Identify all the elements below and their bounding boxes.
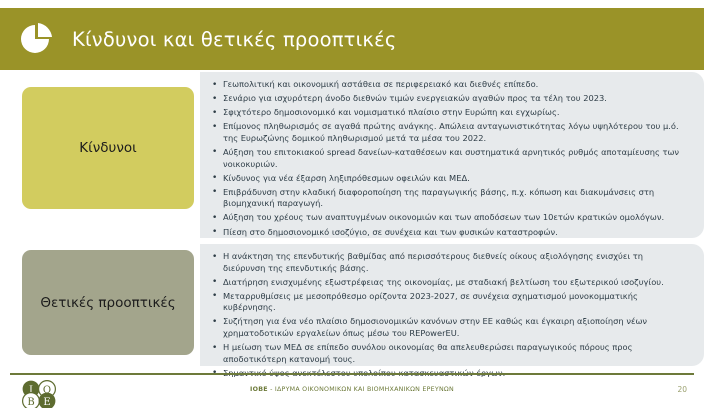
- pie-chart-icon: [18, 21, 54, 57]
- svg-text:E: E: [43, 397, 50, 408]
- section-panel-risks: Γεωπολιτική και οικονομική αστάθεια σε π…: [200, 72, 704, 238]
- list-item: Πίεση στο δημοσιονομικό ισοζύγιο, σε συν…: [210, 227, 684, 239]
- list-item: Κίνδυνος για νέα έξαρση ληξιπρόθεσμων οφ…: [210, 173, 684, 185]
- page-title: Κίνδυνοι και θετικές προοπτικές: [72, 28, 396, 51]
- footer-divider: [10, 373, 694, 375]
- iobe-logo-icon: I O B E: [20, 380, 62, 408]
- positive-prospects-bullet-list: Η ανάκτηση της επενδυτικής βαθμίδας από …: [210, 251, 684, 379]
- section-label-positive-prospects-text: Θετικές προοπτικές: [40, 295, 175, 311]
- section-panel-positive-prospects: Η ανάκτηση της επενδυτικής βαθμίδας από …: [200, 244, 704, 366]
- list-item: Διατήρηση ενισχυμένης εξωστρέφειας της ο…: [210, 277, 684, 289]
- list-item: Συζήτηση για ένα νέο πλαίσιο δημοσιονομι…: [210, 316, 684, 339]
- slide-header: Κίνδυνοι και θετικές προοπτικές: [0, 8, 704, 70]
- slide-body: Κίνδυνοι Γεωπολιτική και οικονομική αστά…: [0, 70, 704, 370]
- list-item: Αύξηση του χρέους των αναπτυγμένων οικον…: [210, 212, 684, 224]
- page-number: 20: [677, 385, 687, 394]
- list-item: Η μείωση των ΜΕΔ σε επίπεδο συνόλου οικο…: [210, 342, 684, 365]
- list-item: Αύξηση του επιτοκιακού spread δανείων-κα…: [210, 147, 684, 170]
- list-item: Επίμονος πληθωρισμός σε αγαθά πρώτης ανά…: [210, 121, 684, 144]
- footer-organization-name: - ΙΔΡΥΜΑ ΟΙΚΟΝΟΜΙΚΩΝ ΚΑΙ ΒΙΟΜΗΧΑΝΙΚΩΝ ΕΡ…: [268, 386, 454, 393]
- section-label-risks: Κίνδυνοι: [22, 87, 194, 209]
- slide-footer: I O B E IOBE - ΙΔΡΥΜΑ ΟΙΚΟΝΟΜΙΚΩΝ ΚΑΙ ΒΙ…: [0, 377, 704, 413]
- list-item: Γεωπολιτική και οικονομική αστάθεια σε π…: [210, 79, 684, 91]
- section-label-positive-prospects: Θετικές προοπτικές: [22, 250, 194, 355]
- list-item: Σφιχτότερο δημοσιονομικό και νομισματικό…: [210, 107, 684, 119]
- section-label-risks-text: Κίνδυνοι: [79, 140, 136, 156]
- list-item: Επιβράδυνση στην κλαδική διαφοροποίηση τ…: [210, 187, 684, 210]
- list-item: Μεταρρυθμίσεις με μεσοπρόθεσμο ορίζοντα …: [210, 291, 684, 314]
- risks-bullet-list: Γεωπολιτική και οικονομική αστάθεια σε π…: [210, 79, 684, 238]
- list-item: Σενάριο για ισχυρότερη άνοδο διεθνών τιμ…: [210, 93, 684, 105]
- footer-organization: IOBE - ΙΔΡΥΜΑ ΟΙΚΟΝΟΜΙΚΩΝ ΚΑΙ ΒΙΟΜΗΧΑΝΙΚ…: [0, 386, 704, 393]
- list-item: Η ανάκτηση της επενδυτικής βαθμίδας από …: [210, 251, 684, 274]
- svg-text:B: B: [27, 397, 34, 408]
- footer-brand: IOBE: [250, 386, 268, 393]
